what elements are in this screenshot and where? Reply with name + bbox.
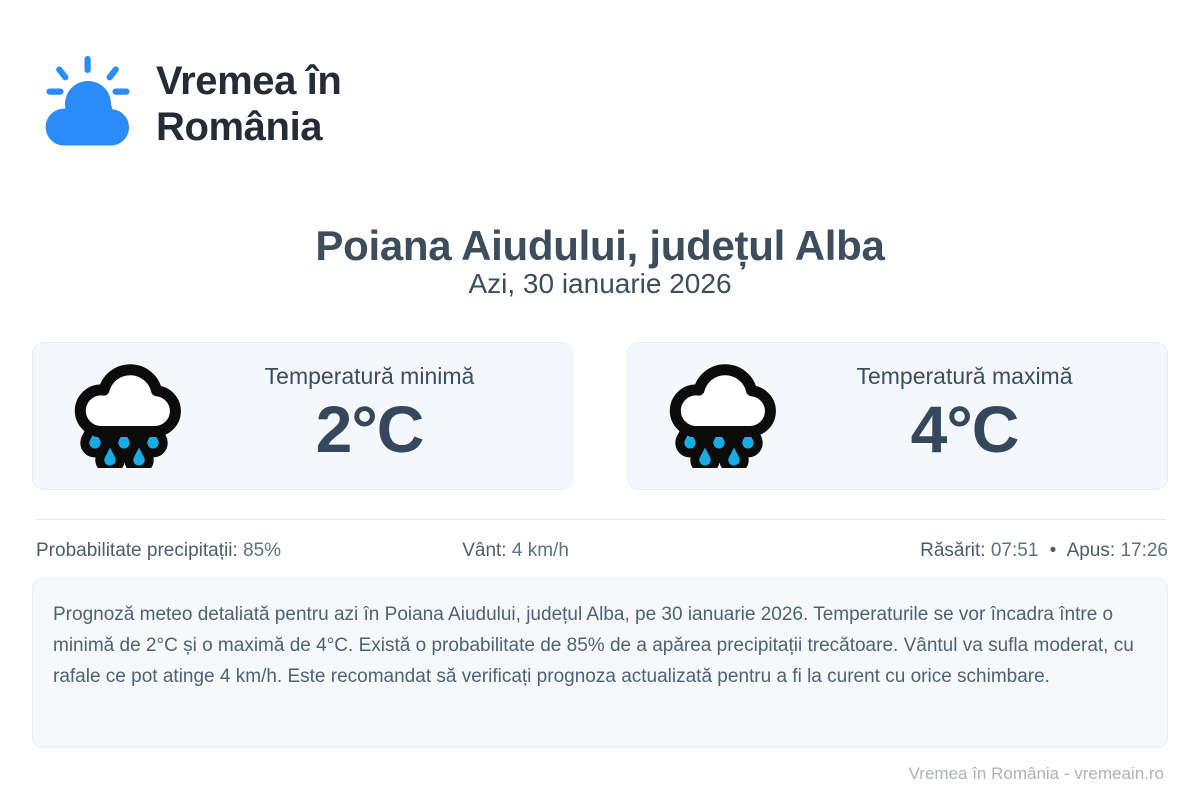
- sun-times-separator: •: [1044, 538, 1063, 564]
- max-temperature-label: Temperatură maximă: [856, 362, 1072, 390]
- site-name: Vremea înRomânia: [156, 58, 341, 150]
- forecast-description-box: Prognoză meteo detaliată pentru azi în P…: [32, 578, 1168, 748]
- wind-label: Vânt:: [462, 540, 506, 561]
- min-temperature-card: Temperatură minimă 2°C: [32, 342, 573, 490]
- wind-stat: Vânt: 4 km/h: [462, 538, 569, 564]
- weather-stats-row: Probabilitate precipitații: 85% Vânt: 4 …: [36, 538, 1168, 564]
- sunset-value: 17:26: [1120, 540, 1168, 561]
- max-temperature-value: 4°C: [911, 392, 1019, 466]
- max-temperature-body: Temperatură maximă 4°C: [780, 362, 1149, 470]
- brand-line-1: Vremea în: [156, 59, 341, 103]
- weather-forecast-page: Vremea înRomânia Poiana Aiudului, județu…: [0, 0, 1200, 800]
- page-title: Poiana Aiudului, județul Alba: [0, 220, 1200, 272]
- sunrise-value: 07:51: [991, 540, 1039, 561]
- sunset-label: Apus:: [1067, 540, 1116, 561]
- sun-behind-cloud-icon: [36, 52, 140, 156]
- rain-cloud-icon: [67, 364, 185, 468]
- min-temperature-body: Temperatură minimă 2°C: [185, 362, 554, 470]
- wind-value: 4 km/h: [512, 540, 569, 561]
- rain-cloud-icon: [662, 364, 780, 468]
- precipitation-value: 85%: [243, 540, 281, 561]
- footer-attribution: Vremea în România - vremeain.ro: [909, 762, 1164, 786]
- stats-divider: [36, 519, 1166, 520]
- max-temperature-card: Temperatură maximă 4°C: [627, 342, 1168, 490]
- page-date-subtitle: Azi, 30 ianuarie 2026: [0, 266, 1200, 302]
- brand-line-2: România: [156, 105, 322, 149]
- site-logo[interactable]: Vremea înRomânia: [36, 52, 341, 156]
- sun-times-stat: Răsărit: 07:51 • Apus: 17:26: [920, 538, 1168, 564]
- sunrise-label: Răsărit:: [920, 540, 985, 561]
- min-temperature-value: 2°C: [316, 392, 424, 466]
- forecast-description-text: Prognoză meteo detaliată pentru azi în P…: [53, 599, 1141, 692]
- min-temperature-label: Temperatură minimă: [265, 362, 475, 390]
- precipitation-label: Probabilitate precipitații:: [36, 540, 238, 561]
- precipitation-stat: Probabilitate precipitații: 85%: [36, 538, 281, 564]
- temperature-cards: Temperatură minimă 2°C: [32, 342, 1168, 490]
